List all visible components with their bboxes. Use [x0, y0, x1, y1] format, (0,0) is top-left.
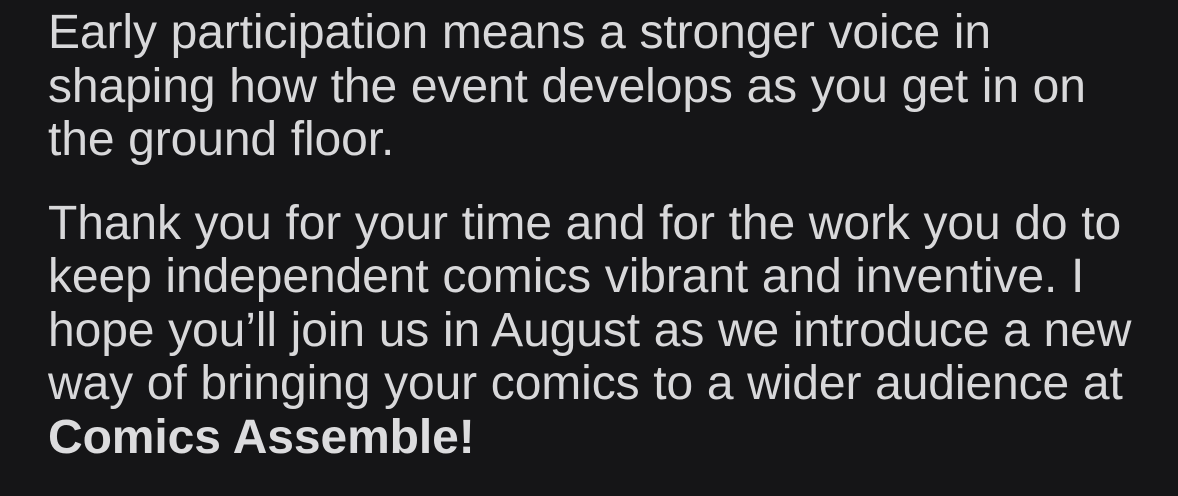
paragraph-thank-you-lead: Thank you for your time and for the work…: [48, 197, 1131, 411]
paragraph-thank-you: Thank you for your time and for the work…: [48, 197, 1138, 465]
paragraph-early-participation: Early participation means a stronger voi…: [48, 6, 1138, 167]
reader-body-text: Early participation means a stronger voi…: [0, 0, 1178, 496]
event-name-emphasis: Comics Assemble!: [48, 411, 475, 464]
